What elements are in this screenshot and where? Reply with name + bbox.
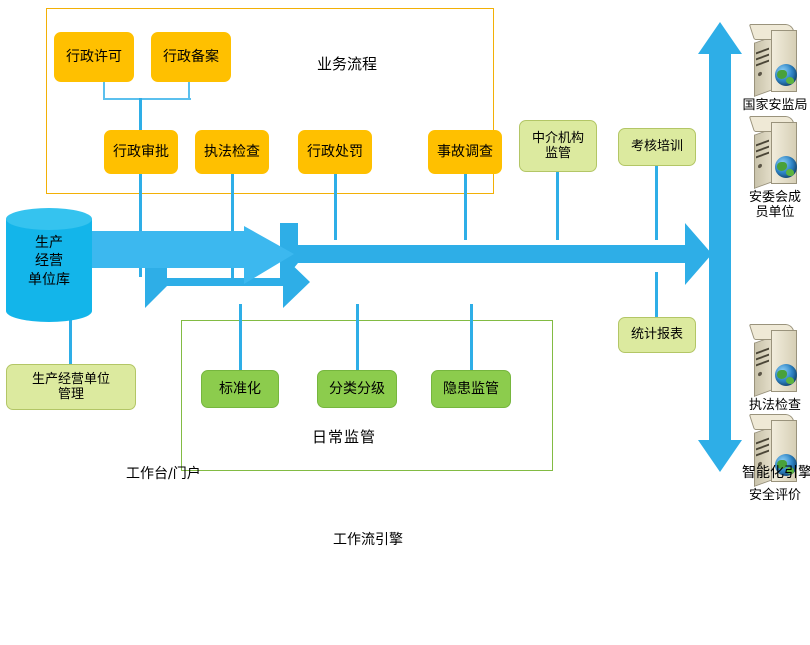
label-line1: 安委会成 <box>729 190 810 205</box>
node-standardization-label: 标准化 <box>219 381 261 398</box>
external-system-safety-evaluation-label: 安全评价 <box>729 488 810 503</box>
label-line2: 员单位 <box>729 205 810 220</box>
connector-stem-standardization <box>239 304 242 371</box>
node-administrative-license-label: 行政许可 <box>66 49 122 66</box>
node-statistics-report[interactable]: 统计报表 <box>618 317 696 353</box>
external-system-national-bureau[interactable]: 国家安监局 <box>748 20 802 98</box>
arrow-workflow-engine-label: 工作流引擎 <box>333 529 403 549</box>
node-hazard-supervision[interactable]: 隐患监管 <box>431 370 511 408</box>
node-accident-investigation-label: 事故调查 <box>437 144 493 161</box>
connector-stem-hazard <box>470 304 473 371</box>
database-label-line3: 单位库 <box>6 271 92 289</box>
label-line1: 安全评价 <box>729 488 810 503</box>
node-administrative-filing[interactable]: 行政备案 <box>151 32 231 82</box>
node-law-enforcement-inspection[interactable]: 执法检查 <box>195 130 269 174</box>
database-production-units: 生产 经营 单位库 <box>6 208 92 320</box>
node-classification-grading-label: 分类分级 <box>329 381 385 398</box>
panel-daily-supervision-title: 日常监管 <box>312 426 376 447</box>
node-hazard-supervision-label: 隐患监管 <box>443 381 499 398</box>
node-accident-investigation[interactable]: 事故调查 <box>428 130 502 174</box>
node-administrative-filing-label: 行政备案 <box>163 49 219 66</box>
panel-business-process-title: 业务流程 <box>317 53 377 74</box>
node-administrative-approval[interactable]: 行政审批 <box>104 130 178 174</box>
arrow-portal-label: 工作台/门户 <box>126 463 201 483</box>
external-system-safety-committee[interactable]: 安委会成 员单位 <box>748 112 802 190</box>
node-law-enforcement-inspection-label: 执法检查 <box>204 144 260 161</box>
node-standardization[interactable]: 标准化 <box>201 370 279 408</box>
arrow-system-integration: 系统集成 <box>698 250 742 472</box>
node-production-unit-management-label-line2: 管理 <box>32 387 110 402</box>
node-administrative-license[interactable]: 行政许可 <box>54 32 134 82</box>
node-classification-grading[interactable]: 分类分级 <box>317 370 397 408</box>
node-administrative-penalty-label: 行政处罚 <box>307 144 363 161</box>
node-agency-supervision-label-line1: 中介机构 <box>532 131 584 146</box>
connector-stem-database <box>69 320 72 366</box>
connector-bracket-stem <box>139 98 142 132</box>
arrow-intelligence-engine-label: 智能化引擎 <box>742 462 810 482</box>
node-agency-supervision[interactable]: 中介机构 监管 <box>519 120 597 172</box>
globe-icon <box>775 364 797 386</box>
node-production-unit-management-label-line1: 生产经营单位 <box>32 372 110 387</box>
arrow-intelligence-engine: 智能化引擎 <box>280 223 712 285</box>
database-label-line1: 生产 <box>6 234 92 252</box>
diagram-canvas: 业务流程 日常监管 智能化引擎 工作流引擎 工作台/门户 <box>0 0 810 491</box>
node-administrative-penalty[interactable]: 行政处罚 <box>298 130 372 174</box>
connector-stem-classification <box>356 304 359 371</box>
database-label-line2: 经营 <box>6 252 92 270</box>
node-production-unit-management[interactable]: 生产经营单位 管理 <box>6 364 136 410</box>
node-statistics-report-label: 统计报表 <box>631 327 683 342</box>
cylinder-top <box>6 208 92 230</box>
node-assessment-training-label: 考核培训 <box>631 139 683 154</box>
database-label: 生产 经营 单位库 <box>6 234 92 289</box>
connector-bracket-bar <box>103 98 191 100</box>
globe-icon <box>775 64 797 86</box>
node-administrative-approval-label: 行政审批 <box>113 144 169 161</box>
globe-icon <box>775 156 797 178</box>
external-system-safety-committee-label: 安委会成 员单位 <box>729 190 810 221</box>
node-assessment-training[interactable]: 考核培训 <box>618 128 696 166</box>
node-agency-supervision-label-line2: 监管 <box>532 146 584 161</box>
external-system-law-enforcement[interactable]: 执法检查 <box>748 320 802 398</box>
